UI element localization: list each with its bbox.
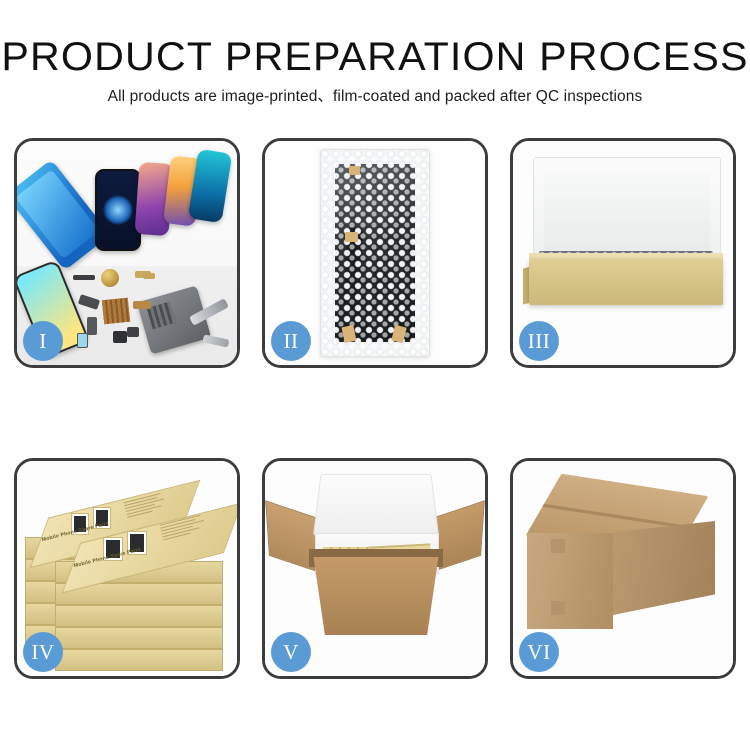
tape-icon <box>391 325 407 343</box>
page-subtitle: All products are image-printed、film-coat… <box>0 86 750 108</box>
step-badge-6: VI <box>519 632 559 672</box>
process-steps-grid: I II <box>14 138 736 680</box>
tape-icon <box>341 325 356 343</box>
tape-icon <box>345 232 358 242</box>
spare-part-icon <box>77 333 88 348</box>
tape-icon <box>349 166 360 175</box>
step-badge-5: V <box>271 632 311 672</box>
step-badge-3: III <box>519 321 559 361</box>
spare-part-icon <box>73 275 95 280</box>
step-panel-3: III <box>510 138 736 368</box>
bubble-wrap-bag-icon <box>320 149 430 357</box>
spare-part-icon <box>143 273 155 279</box>
tape-icon <box>551 601 565 615</box>
lcd-screen-icon <box>335 164 415 342</box>
step-panel-1: I <box>14 138 240 368</box>
yellow-box-icon <box>529 259 723 305</box>
tape-icon <box>551 539 565 553</box>
product-preparation-infographic: PRODUCT PREPARATION PROCESS All products… <box>0 0 750 750</box>
page-title: PRODUCT PREPARATION PROCESS <box>0 34 750 80</box>
spare-part-icon <box>127 327 139 337</box>
flex-cable-icon <box>343 228 363 332</box>
spare-part-icon <box>87 317 97 335</box>
brown-carton-icon <box>305 557 447 635</box>
chip-grid-icon <box>102 298 130 325</box>
step-badge-2: II <box>271 321 311 361</box>
step-badge-1: I <box>23 321 63 361</box>
spare-part-icon <box>133 301 151 309</box>
styrofoam-lid-icon <box>313 474 439 536</box>
step-panel-4: Mobile Phone Spare Parts Mobile Phone Sp… <box>14 458 240 679</box>
step-panel-2: II <box>262 138 488 368</box>
vibration-motor-icon <box>101 269 119 287</box>
black-lcd-screen-icon <box>95 169 141 251</box>
spare-part-icon <box>113 331 127 343</box>
carton-front-face <box>527 533 613 629</box>
header: PRODUCT PREPARATION PROCESS All products… <box>0 34 750 108</box>
step-panel-5: V <box>262 458 488 679</box>
step-panel-6: VI <box>510 458 736 679</box>
flex-cable-icon <box>373 270 385 332</box>
step-badge-4: IV <box>23 632 63 672</box>
